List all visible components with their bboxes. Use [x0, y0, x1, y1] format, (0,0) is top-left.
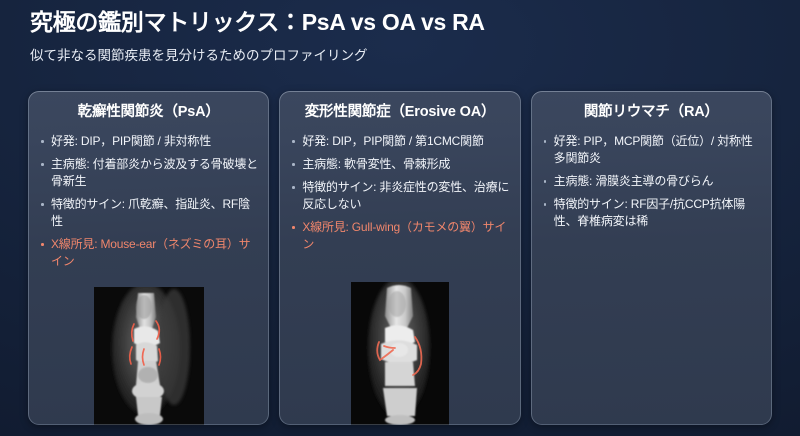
- slide-root: 究極の鑑別マトリックス：PsA vs OA vs RA 似て非なる関節疾患を見分…: [0, 0, 800, 436]
- list-item: 主病態: 滑膜炎主導の骨びらん: [541, 173, 763, 190]
- page-title: 究極の鑑別マトリックス：PsA vs OA vs RA: [30, 8, 770, 37]
- list-item: 特徴的サイン: 爪乾癬、指趾炎、RF陰性: [38, 196, 260, 230]
- card-erosive-oa[interactable]: 変形性関節症（Erosive OA） 好発: DIP，PIP関節 / 第1CMC…: [279, 91, 520, 425]
- list-item-xray-finding: X線所見: Mouse-ear（ネズミの耳）サイン: [38, 236, 260, 270]
- list-item-xray-finding: X線所見: Gull-wing（カモメの翼）サイン: [289, 219, 511, 253]
- card-ra[interactable]: 関節リウマチ（RA） 好発: PIP，MCP関節（近位）/ 対称性多関節炎 主病…: [531, 91, 772, 425]
- list-item: 好発: PIP，MCP関節（近位）/ 対称性多関節炎: [541, 133, 763, 167]
- xray-image-gull-wing: [351, 282, 449, 425]
- card-psa-bullets: 好発: DIP，PIP関節 / 非対称性 主病態: 付着部炎から波及する骨破壊と…: [38, 133, 260, 270]
- card-psa[interactable]: 乾癬性関節炎（PsA） 好発: DIP，PIP関節 / 非対称性 主病態: 付着…: [28, 91, 269, 425]
- list-item: 主病態: 付着部炎から波及する骨破壊と骨新生: [38, 156, 260, 190]
- card-erosive-oa-bullets: 好発: DIP，PIP関節 / 第1CMC関節 主病態: 軟骨変性、骨棘形成 特…: [289, 133, 511, 253]
- xray-image-mouse-ear: [94, 287, 204, 425]
- list-item: 好発: DIP，PIP関節 / 第1CMC関節: [289, 133, 511, 150]
- comparison-card-row: 乾癬性関節炎（PsA） 好発: DIP，PIP関節 / 非対称性 主病態: 付着…: [28, 91, 772, 425]
- card-erosive-oa-title: 変形性関節症（Erosive OA）: [289, 103, 510, 121]
- list-item: 特徴的サイン: RF因子/抗CCP抗体陽性、脊椎病変は稀: [541, 196, 763, 230]
- card-erosive-oa-xray-area: [279, 283, 520, 425]
- card-psa-xray-area: [28, 283, 269, 425]
- card-ra-bullets: 好発: PIP，MCP関節（近位）/ 対称性多関節炎 主病態: 滑膜炎主導の骨び…: [541, 133, 763, 230]
- card-psa-title: 乾癬性関節炎（PsA）: [38, 103, 259, 121]
- page-subtitle: 似て非なる関節疾患を見分けるためのプロファイリング: [30, 44, 770, 64]
- list-item: 好発: DIP，PIP関節 / 非対称性: [38, 133, 260, 150]
- list-item: 特徴的サイン: 非炎症性の変性、治療に反応しない: [289, 179, 511, 213]
- card-ra-title: 関節リウマチ（RA）: [541, 103, 762, 121]
- slide-header: 究極の鑑別マトリックス：PsA vs OA vs RA 似て非なる関節疾患を見分…: [30, 8, 770, 64]
- list-item: 主病態: 軟骨変性、骨棘形成: [289, 156, 511, 173]
